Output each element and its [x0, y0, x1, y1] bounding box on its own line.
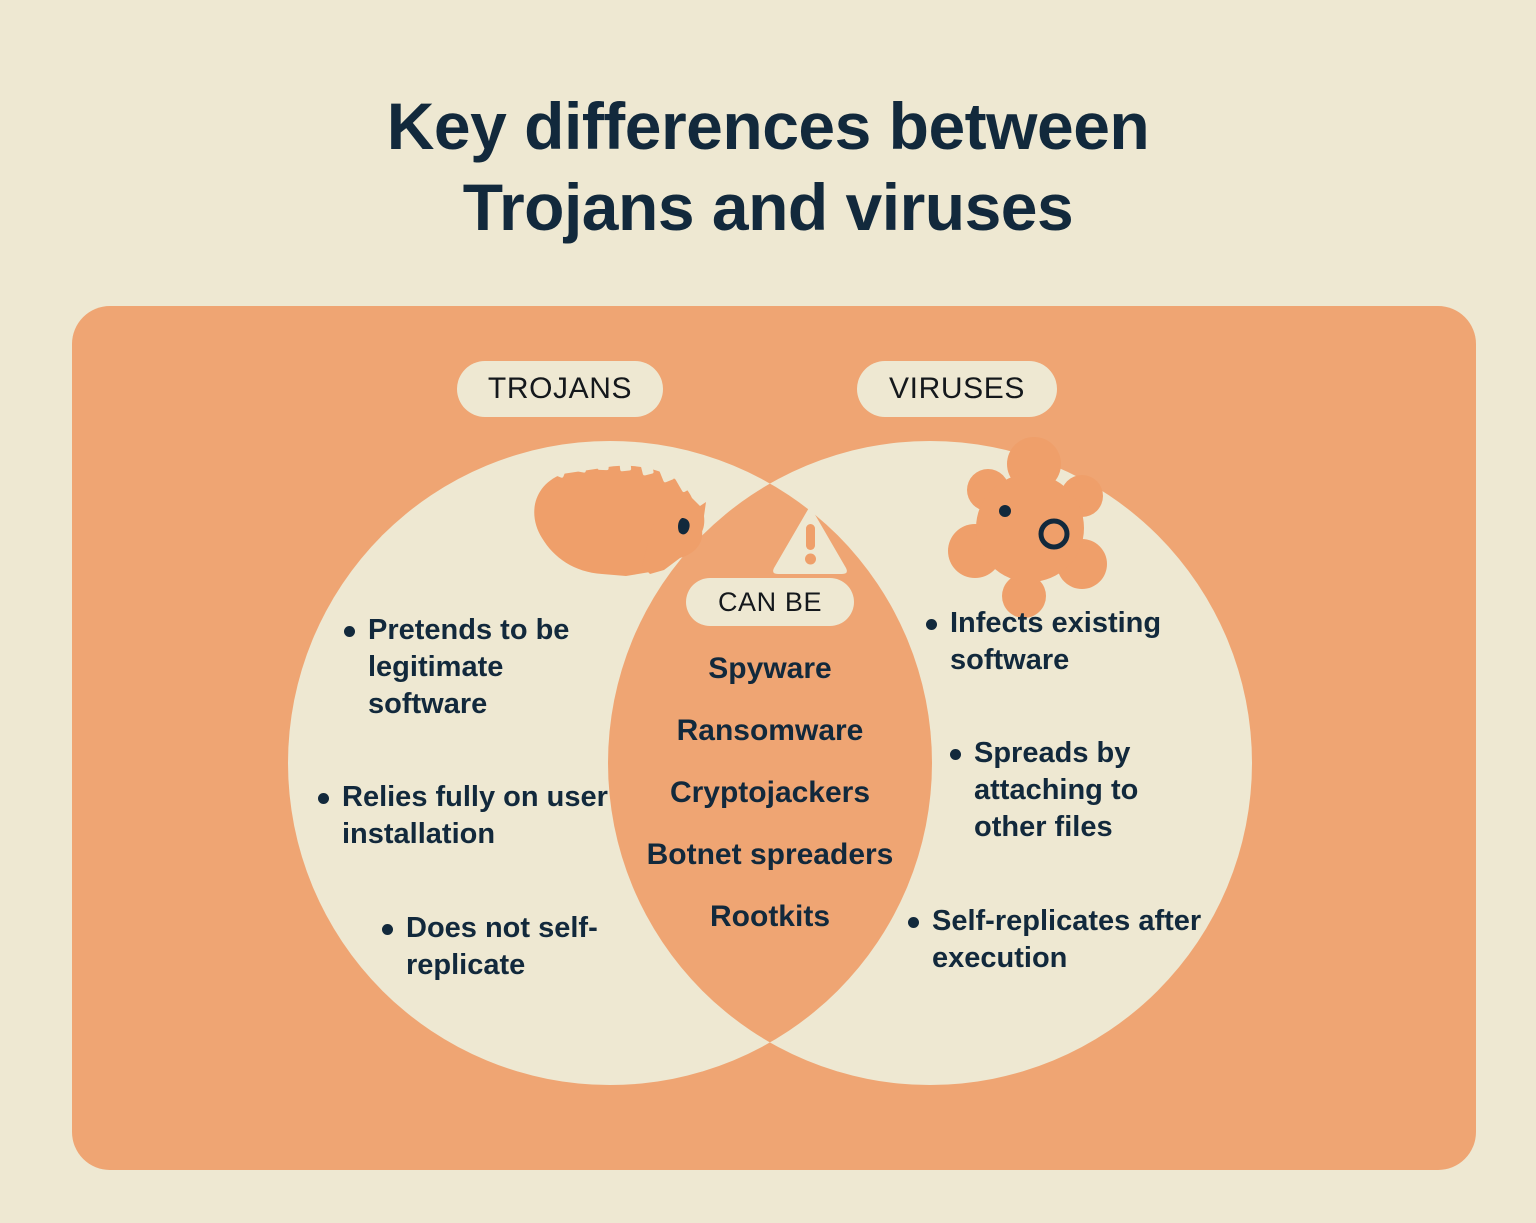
page-title: Key differences between Trojans and viru…	[0, 86, 1536, 247]
page-title-line-1: Key differences between	[0, 86, 1536, 167]
bullet-dot-icon	[950, 749, 961, 760]
bullet-dot-icon	[318, 793, 329, 804]
list-item: Does not self-replicate	[318, 910, 624, 984]
label-viruses: VIRUSES	[857, 361, 1057, 417]
can-be-list: Spyware Ransomware Cryptojackers Botnet …	[620, 652, 920, 934]
list-item-label: Self-replicates after execution	[932, 903, 1214, 977]
bullet-dot-icon	[926, 619, 937, 630]
page-title-line-2: Trojans and viruses	[0, 167, 1536, 248]
list-item: Rootkits	[620, 900, 920, 934]
list-item-label: Spreads by attaching to other files	[974, 735, 1214, 846]
trojans-bullet-list: Pretends to be legitimate software Relie…	[318, 612, 624, 984]
list-item: Cryptojackers	[620, 776, 920, 810]
viruses-bullet-list: Infects existing software Spreads by att…	[908, 605, 1214, 977]
list-item: Spreads by attaching to other files	[908, 735, 1214, 846]
list-item: Relies fully on user installation	[318, 779, 624, 853]
list-item: Botnet spreaders	[620, 838, 920, 872]
bullet-dot-icon	[382, 924, 393, 935]
list-item-label: Does not self-replicate	[406, 910, 624, 984]
list-item-label: Relies fully on user installation	[342, 779, 624, 853]
list-item-label: Infects existing software	[950, 605, 1214, 679]
list-item: Spyware	[620, 652, 920, 686]
list-item-label: Pretends to be legitimate software	[368, 612, 624, 723]
list-item: Ransomware	[620, 714, 920, 748]
list-item: Self-replicates after execution	[908, 903, 1214, 977]
list-item: Infects existing software	[908, 605, 1214, 679]
virus-eye-dot-icon	[999, 505, 1011, 517]
list-item: Pretends to be legitimate software	[318, 612, 624, 723]
label-trojans: TROJANS	[457, 361, 663, 417]
bullet-dot-icon	[344, 626, 355, 637]
label-can-be: CAN BE	[686, 578, 854, 626]
